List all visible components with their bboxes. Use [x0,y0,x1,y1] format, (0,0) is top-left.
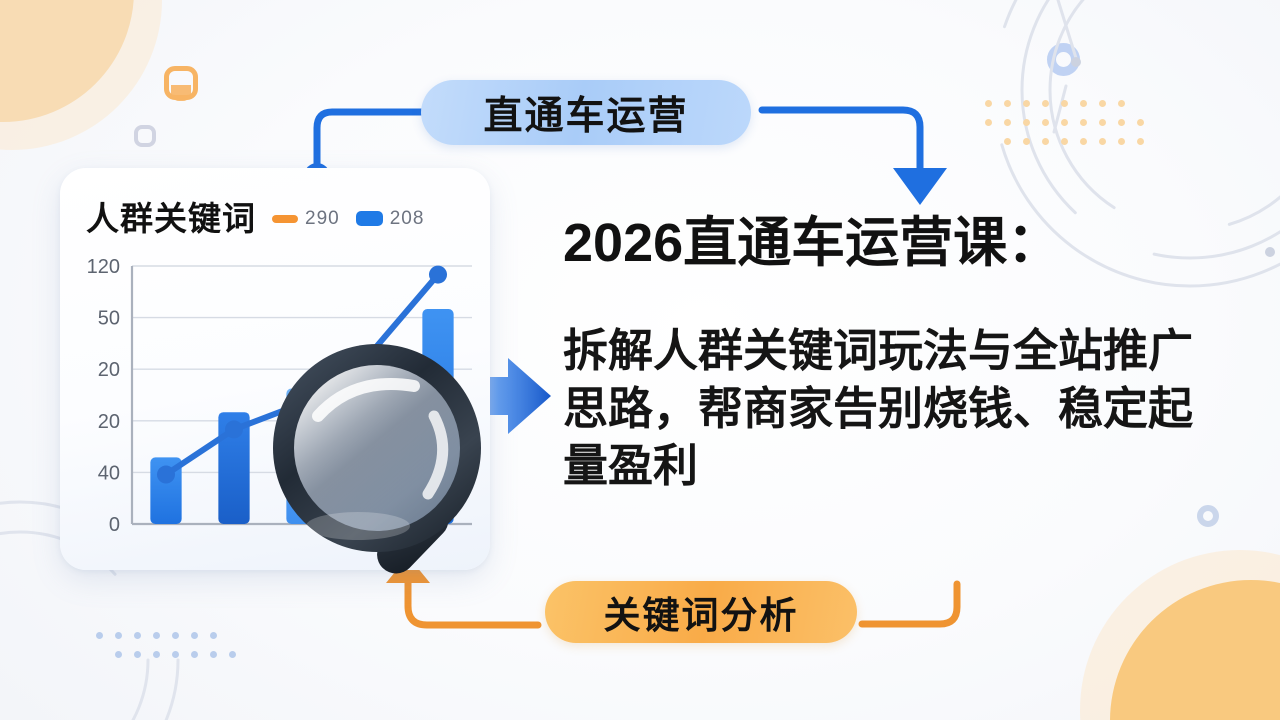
chart-line-marker [429,266,447,284]
poster-canvas: 直通车运营 关键词分析 人群关键词 290 208 120502020400 4… [0,0,1280,720]
chart-y-tick-label: 20 [98,359,120,381]
chart-y-tick-label: 0 [109,514,120,536]
legend-swatch-line-icon [272,215,298,223]
legend-label-line: 290 [305,208,340,230]
chart-y-tick-label: 50 [98,308,120,330]
magnifier-icon [258,330,533,595]
legend-label-bar: 208 [390,208,425,230]
chart-legend: 290 208 [272,208,424,230]
page-subtitle: 拆解人群关键词玩法与全站推广思路，帮商家告别烧钱、稳定起量盈利 [563,322,1235,495]
chart-y-tick-label: 20 [98,411,120,433]
chart-line-marker [225,420,243,438]
chart-header: 人群关键词 290 208 [86,192,474,240]
arrow-down-icon [893,168,947,205]
page-title: 2026直通车运营课： [563,214,1223,273]
legend-item-bar: 208 [356,208,425,230]
legend-swatch-bar-icon [356,211,383,226]
chart-title: 人群关键词 [86,192,256,240]
badge-bottom-label[interactable]: 关键词分析 [545,581,857,643]
badge-top-label[interactable]: 直通车运营 [421,80,751,145]
chart-y-tick-label: 40 [98,462,120,484]
chart-line-marker [157,466,175,484]
legend-item-line: 290 [272,208,340,230]
chart-y-tick-label: 120 [87,256,120,278]
